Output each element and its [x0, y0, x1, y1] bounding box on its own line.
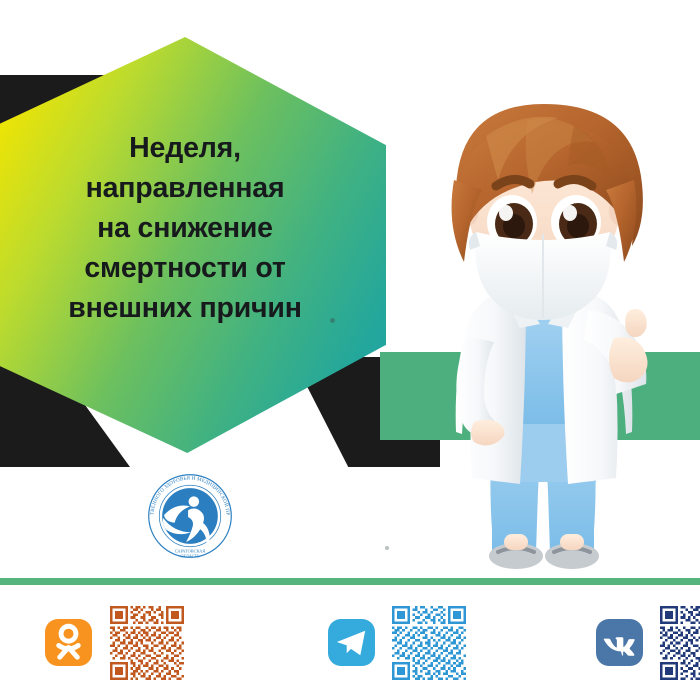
- organisation-logo: ЦЕНТР ОБЩЕСТВЕННОГО ЗДОРОВЬЯ И МЕДИЦИНСК…: [142, 468, 238, 564]
- footer-divider: [0, 578, 700, 585]
- logo-region-line1: САРАТОВСКАЯ: [175, 548, 206, 553]
- qr-code-vk[interactable]: [660, 606, 700, 680]
- stray-dot: [385, 546, 389, 550]
- social-group-vk: [596, 606, 700, 680]
- qr-code-odnoklassniki[interactable]: [110, 606, 184, 680]
- telegram-icon[interactable]: [328, 619, 375, 666]
- vk-icon[interactable]: [596, 619, 643, 666]
- footer: [0, 578, 700, 700]
- social-group-telegram: [328, 606, 466, 680]
- social-group-odnoklassniki: [45, 606, 184, 680]
- decorative-dot: [330, 318, 335, 323]
- logo-region-line2: ОБЛАСТЬ: [180, 553, 200, 558]
- page-title: Неделя, направленная на снижение смертно…: [20, 128, 350, 328]
- qr-code-telegram[interactable]: [392, 606, 466, 680]
- ok-icon[interactable]: [45, 619, 92, 666]
- poster-canvas: Неделя, направленная на снижение смертно…: [0, 0, 700, 700]
- social-links-row: [0, 585, 700, 700]
- doctor-mascot: [398, 82, 688, 582]
